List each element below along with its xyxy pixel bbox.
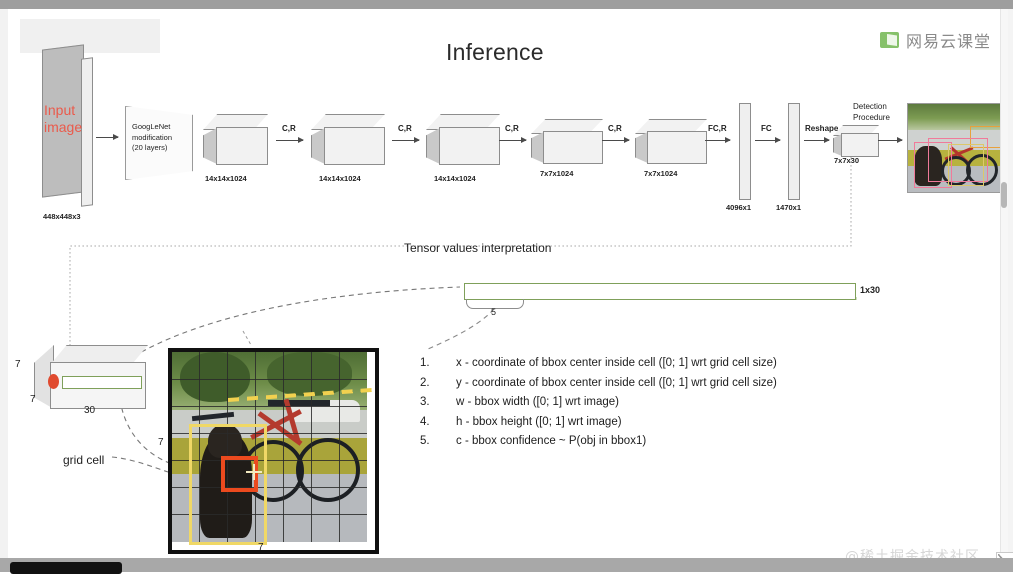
- fc-bar-4096: [739, 103, 751, 200]
- list-item: 3. w - bbox width ([0; 1] wrt image): [420, 393, 777, 413]
- input-image-label: Input image: [44, 102, 82, 136]
- brand-logo-text: 网易云课堂: [906, 28, 991, 52]
- arrow-4: [602, 140, 629, 141]
- arrow-7: [804, 140, 829, 141]
- list-item-number: 4.: [420, 413, 456, 433]
- op-label-reshape: Reshape: [805, 124, 838, 133]
- vertical-scrollbar-thumb[interactable]: [1001, 182, 1007, 208]
- video-player: Inference 网易云课堂 Input image 448x448x3 Go…: [0, 0, 1013, 572]
- op-label-4: C,R: [608, 124, 622, 133]
- op-label-3: C,R: [505, 124, 519, 133]
- cube-width-label: 7: [30, 394, 36, 405]
- list-item-text: h - bbox height ([0; 1] wrt image): [456, 413, 622, 433]
- list-item: 4. h - bbox height ([0; 1] wrt image): [420, 413, 777, 433]
- arrow-6: [755, 140, 780, 141]
- arrow-1: [276, 140, 303, 141]
- fc-bar-1470-label: 1470x1: [776, 203, 801, 212]
- vertical-scrollbar-track[interactable]: [1000, 9, 1008, 558]
- op-label-fc: FC: [761, 124, 772, 133]
- grid-rows-label: 7: [158, 437, 164, 448]
- list-item-text: y - coordinate of bbox center inside cel…: [456, 374, 777, 394]
- grid-overlay-image: [168, 348, 379, 554]
- backbone-label: GoogLeNet modification (20 layers): [132, 122, 172, 154]
- green-book-icon: [880, 32, 899, 48]
- feature-cube-2-dims: 14x14x1024: [319, 174, 361, 183]
- tensor-bar-label: 1x30: [860, 285, 880, 295]
- interpretation-list: 1. x - coordinate of bbox center inside …: [420, 354, 777, 452]
- list-item-text: w - bbox width ([0; 1] wrt image): [456, 393, 619, 413]
- player-controls-bar[interactable]: [10, 562, 122, 574]
- list-item: 2. y - coordinate of bbox center inside …: [420, 374, 777, 394]
- arrow-input-to-backbone: [96, 137, 118, 138]
- list-item-number: 2.: [420, 374, 456, 394]
- op-label-1: C,R: [282, 124, 296, 133]
- tensor-bar-1x30: [464, 283, 856, 300]
- grid-cell-label: grid cell: [63, 453, 104, 467]
- list-item: 5. c - bbox confidence ~ P(obj in bbox1): [420, 432, 777, 452]
- player-left-edge: [0, 9, 8, 558]
- fc-bar-4096-label: 4096x1: [726, 203, 751, 212]
- grid-tensor-cube: [34, 345, 146, 407]
- list-item-number: 5.: [420, 432, 456, 452]
- bbox-center-cross: [246, 464, 262, 480]
- arrow-2: [392, 140, 419, 141]
- list-item: 1. x - coordinate of bbox center inside …: [420, 354, 777, 374]
- slide-canvas: Inference 网易云课堂 Input image 448x448x3 Go…: [8, 9, 1004, 558]
- section-label: Tensor values interpretation: [404, 241, 551, 255]
- list-item-number: 3.: [420, 393, 456, 413]
- detection-result-image: [907, 103, 1004, 193]
- list-item-number: 1.: [420, 354, 456, 374]
- op-label-5: FC,R: [708, 124, 727, 133]
- feature-cube-1-dims: 14x14x1024: [205, 174, 247, 183]
- cube-depth-label: 30: [84, 405, 95, 416]
- detection-label-2: Procedure: [853, 113, 890, 122]
- feature-cube-4-dims: 7x7x1024: [540, 169, 573, 178]
- detection-label-1: Detection: [853, 102, 887, 111]
- tensor-brace-label: 5: [491, 307, 496, 317]
- list-item-text: x - coordinate of bbox center inside cel…: [456, 354, 777, 374]
- brand-logo: 网易云课堂: [880, 28, 991, 52]
- arrow-5: [705, 140, 730, 141]
- feature-cube-5-dims: 7x7x1024: [644, 169, 677, 178]
- fc-bar-1470: [788, 103, 800, 200]
- input-dims-label: 448x448x3: [43, 212, 81, 221]
- feature-cube-3-dims: 14x14x1024: [434, 174, 476, 183]
- player-top-bar: [0, 0, 1013, 9]
- player-bottom-bar: [0, 558, 1013, 572]
- page-title: Inference: [446, 39, 544, 66]
- slide-ghost-rect: [20, 19, 160, 53]
- arrow-3: [499, 140, 526, 141]
- highlighted-cell-dot: [48, 374, 59, 389]
- arrow-8: [878, 140, 902, 141]
- list-item-text: c - bbox confidence ~ P(obj in bbox1): [456, 432, 646, 452]
- cube-height-label: 7: [15, 359, 21, 370]
- reshape-cube-dims: 7x7x30: [834, 156, 859, 165]
- op-label-2: C,R: [398, 124, 412, 133]
- grid-cols-label: 7: [258, 542, 264, 553]
